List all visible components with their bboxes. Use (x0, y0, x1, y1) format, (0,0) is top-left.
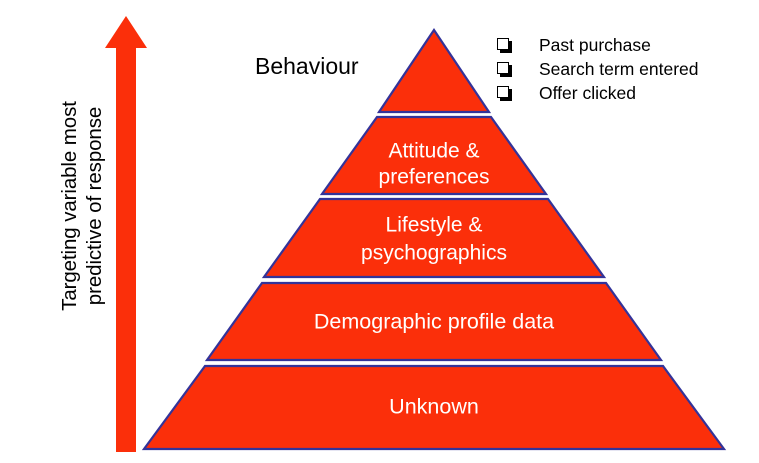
pyramid-tier-2-line-1: Attitude & (388, 140, 479, 163)
legend-item-offer-clicked: Offer clicked (497, 81, 699, 105)
legend: Past purchase Search term entered Offer … (497, 33, 699, 105)
hollow-square-bullet-icon (497, 62, 512, 77)
pyramid-tier-4-line-1: Demographic profile data (314, 310, 554, 334)
pyramid-tier-3-line-1: Lifestyle & (386, 214, 483, 237)
pyramid-tier-2-line-2: preferences (379, 166, 490, 189)
legend-item-past-purchase: Past purchase (497, 33, 699, 57)
hollow-square-bullet-icon (497, 86, 512, 101)
legend-item-search-term-entered: Search term entered (497, 57, 699, 81)
legend-item-label: Offer clicked (539, 83, 636, 103)
diagram-canvas: Targeting variable most predictive of re… (0, 0, 759, 463)
legend-item-label: Search term entered (539, 59, 699, 79)
legend-item-label: Past purchase (539, 35, 651, 55)
pyramid-tier-1 (379, 30, 489, 112)
pyramid-tier-3-line-2: psychographics (361, 242, 507, 265)
pyramid-tier-3 (264, 199, 604, 277)
hollow-square-bullet-icon (497, 38, 512, 53)
pyramid-tier-5-line-1: Unknown (389, 395, 479, 419)
